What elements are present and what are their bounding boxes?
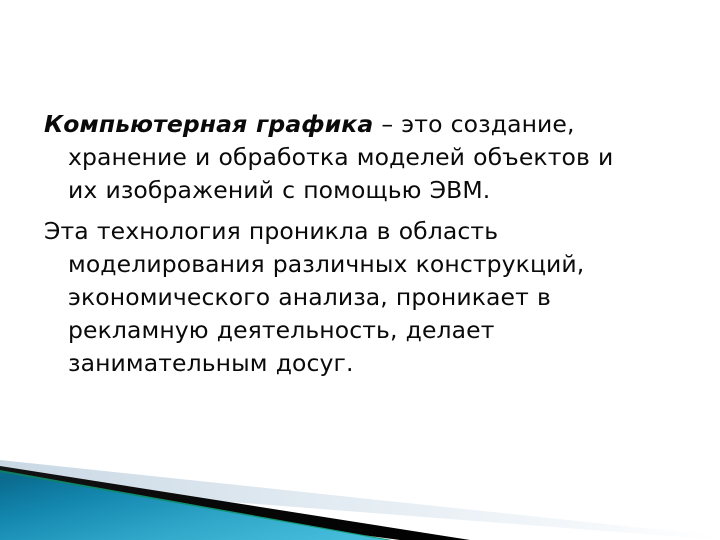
term-computer-graphics: Компьютерная графика	[44, 110, 373, 138]
blue-wedge	[0, 472, 386, 540]
paragraph-applications: Эта технология проникла в область модели…	[44, 215, 644, 380]
paragraph-applications-text: Эта технология проникла в область модели…	[44, 217, 584, 377]
green-accent-sliver	[0, 470, 392, 540]
slide-canvas: Компьютерная графика – это создание, хра…	[0, 0, 720, 540]
black-wedge	[0, 466, 470, 540]
slide-body-text: Компьютерная графика – это создание, хра…	[44, 108, 644, 380]
paragraph-definition: Компьютерная графика – это создание, хра…	[44, 108, 644, 207]
bottom-left-corner-decoration	[0, 440, 720, 540]
pale-wedge	[0, 460, 720, 540]
